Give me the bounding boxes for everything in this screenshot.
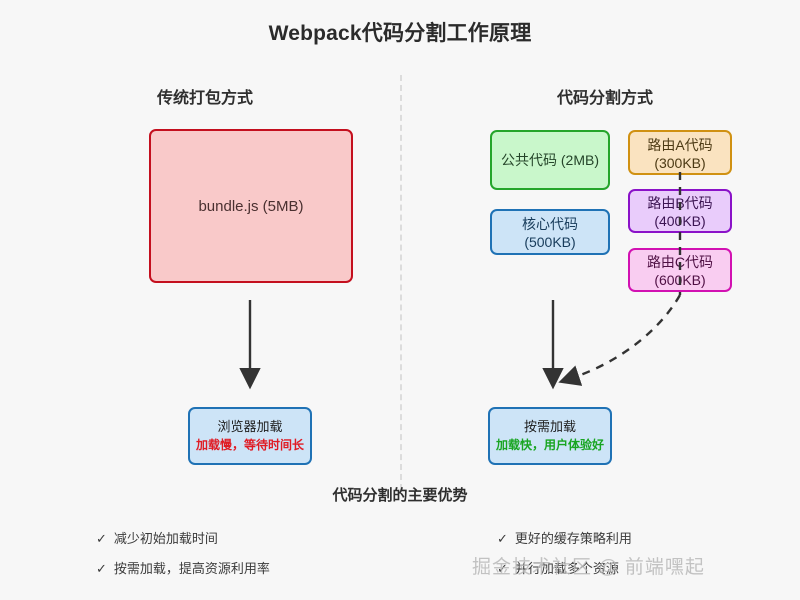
check-icon: ✓ <box>497 531 508 546</box>
advantage-label: 更好的缓存策略利用 <box>515 531 632 546</box>
node-route-c-code[interactable]: 路由C代码 (600KB) <box>628 248 732 292</box>
page-title: Webpack代码分割工作原理 <box>0 17 800 47</box>
node-bundle-js[interactable]: bundle.js (5MB) <box>149 129 353 283</box>
node-browser-load-subtitle: 加载慢，等待时间长 <box>196 436 304 454</box>
node-core-code-label: 核心代码 (500KB) <box>496 214 604 250</box>
node-route-b-code[interactable]: 路由B代码 (400KB) <box>628 189 732 233</box>
node-common-code[interactable]: 公共代码 (2MB) <box>490 130 610 190</box>
node-browser-load-title: 浏览器加载 <box>217 418 282 436</box>
check-icon: ✓ <box>96 561 107 576</box>
node-bundle-js-label: bundle.js (5MB) <box>198 198 303 215</box>
node-route-a-code-label: 路由A代码 (300KB) <box>634 135 726 171</box>
diagram-canvas: Webpack代码分割工作原理 传统打包方式 代码分割方式 bundle.js … <box>0 0 800 600</box>
node-common-code-label: 公共代码 (2MB) <box>501 150 599 170</box>
advantage-item: ✓减少初始加载时间 <box>96 528 218 547</box>
node-route-b-code-label: 路由B代码 (400KB) <box>634 193 726 229</box>
advantages-title: 代码分割的主要优势 <box>0 484 800 505</box>
advantage-label: 减少初始加载时间 <box>114 531 218 546</box>
watermark: 掘金技术社区 @ 前端嘿起 <box>472 552 705 579</box>
node-route-a-code[interactable]: 路由A代码 (300KB) <box>628 130 732 175</box>
center-divider <box>400 75 402 490</box>
node-route-c-code-label: 路由C代码 (600KB) <box>634 252 726 288</box>
node-core-code[interactable]: 核心代码 (500KB) <box>490 209 610 255</box>
node-ondemand-load-subtitle: 加载快，用户体验好 <box>496 436 604 454</box>
advantage-item: ✓更好的缓存策略利用 <box>497 528 632 547</box>
column-header-traditional: 传统打包方式 <box>100 84 310 108</box>
column-header-code-splitting: 代码分割方式 <box>455 84 755 108</box>
node-ondemand-load[interactable]: 按需加载 加载快，用户体验好 <box>488 407 612 465</box>
node-ondemand-load-title: 按需加载 <box>524 418 576 436</box>
node-browser-load[interactable]: 浏览器加载 加载慢，等待时间长 <box>188 407 312 465</box>
arrow-routes-to-ondemand <box>572 295 680 378</box>
check-icon: ✓ <box>96 531 107 546</box>
advantage-item: ✓按需加载，提高资源利用率 <box>96 558 270 577</box>
advantage-label: 按需加载，提高资源利用率 <box>114 561 270 576</box>
